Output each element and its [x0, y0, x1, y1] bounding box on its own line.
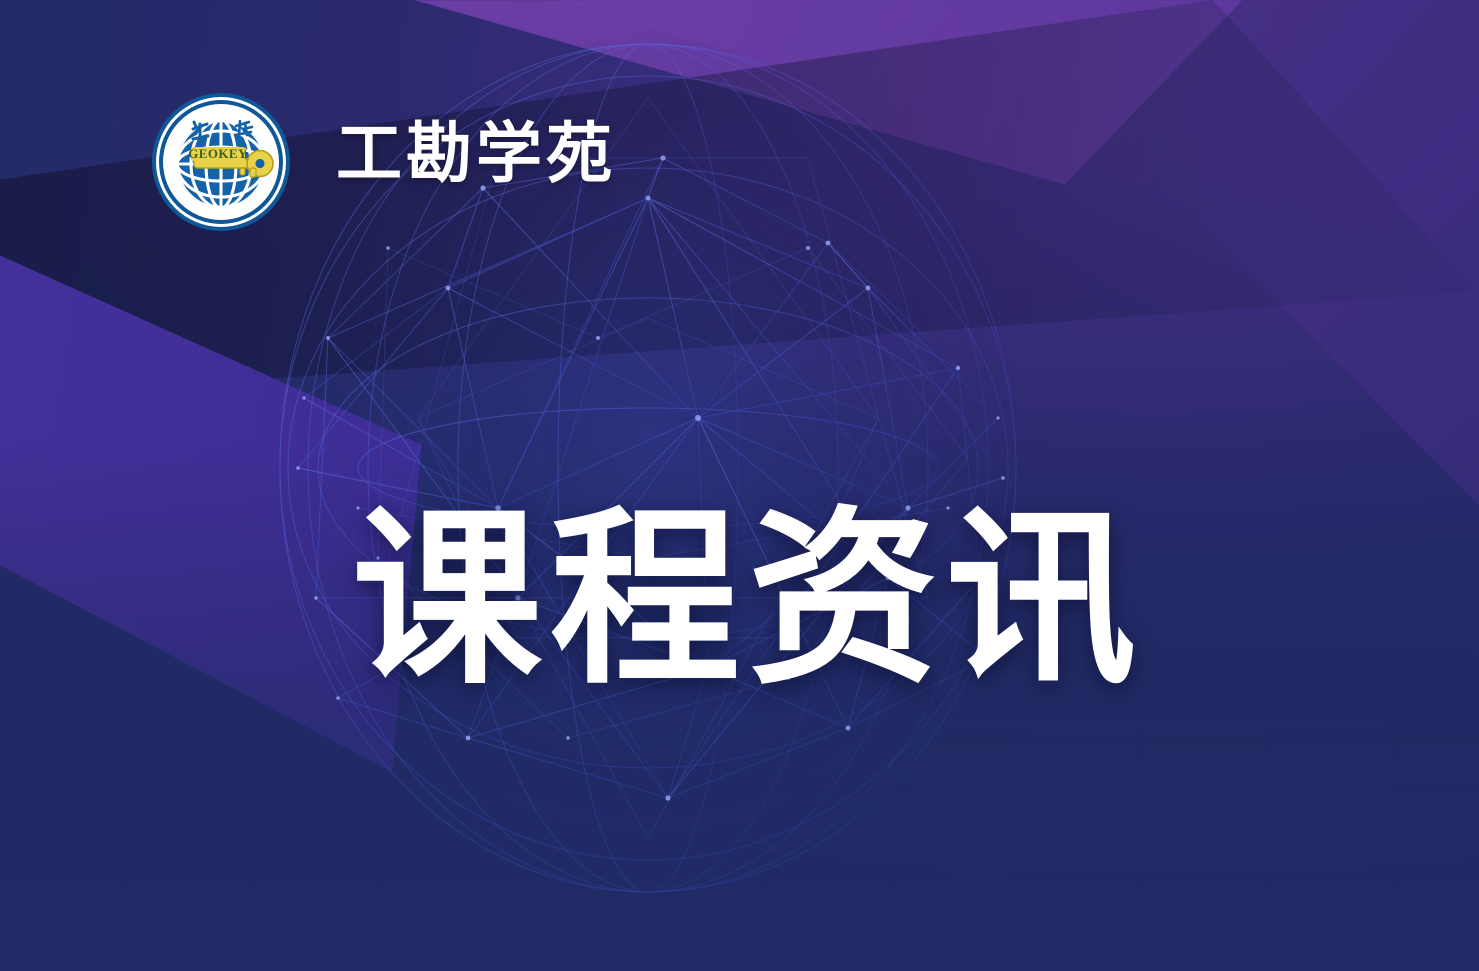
page-title: 课程资讯 [352, 505, 1144, 695]
geokey-logo-icon: GEOKEY [150, 91, 292, 233]
brand-name: 工勘学苑 [336, 122, 616, 188]
svg-text:GEOKEY: GEOKEY [188, 146, 248, 161]
slide-canvas: GEOKEY 工勘学苑 课程资讯 [0, 0, 1479, 971]
